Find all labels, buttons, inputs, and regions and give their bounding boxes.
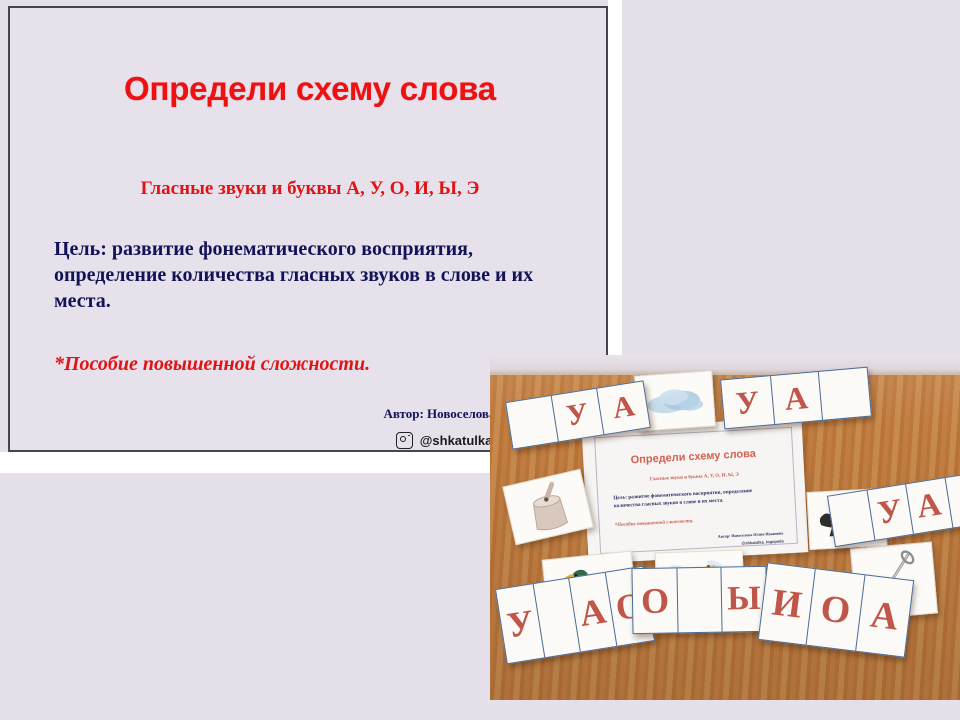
letter-tile: А [598, 381, 650, 434]
strip-ioa-bottom: И О А [758, 562, 914, 657]
letter-tile: У [551, 389, 605, 442]
card-pot [502, 469, 593, 545]
strip-ua-top-right: У А [720, 367, 872, 430]
letter-tile: А [856, 575, 913, 656]
letter-tile: У [721, 376, 775, 428]
letter-tile [506, 396, 558, 449]
pot-icon [503, 470, 592, 544]
photo-bottom-margin [490, 700, 960, 720]
slide-author-credit: Автор: Новоселова Юлия [10, 406, 535, 422]
letter-tile [819, 368, 871, 420]
instagram-icon [396, 432, 413, 449]
letter-tile [678, 568, 723, 633]
strip-ua-mid-right: У А [827, 471, 960, 547]
slide-social-handle-row: @shkatulka_logop [10, 432, 535, 449]
letter-tile: О [632, 568, 678, 633]
slide-goal-text: Цель: развитие фонематического восприяти… [54, 236, 574, 314]
printed-sheet: Определи схему слова Гласные звуки и бук… [582, 417, 809, 563]
strip-y-bottom: О Ы [631, 566, 767, 634]
product-photo: Определи схему слова Гласные звуки и бук… [490, 355, 960, 700]
slide-title: Определи схему слова [10, 70, 610, 108]
photo-wall-strip [490, 355, 960, 375]
slide-preview-page: Определи схему слова Гласные звуки и бук… [0, 0, 960, 720]
slide-subtitle: Гласные звуки и буквы А, У, О, И, Ы, Э [10, 178, 610, 200]
letter-tile: А [771, 372, 823, 424]
